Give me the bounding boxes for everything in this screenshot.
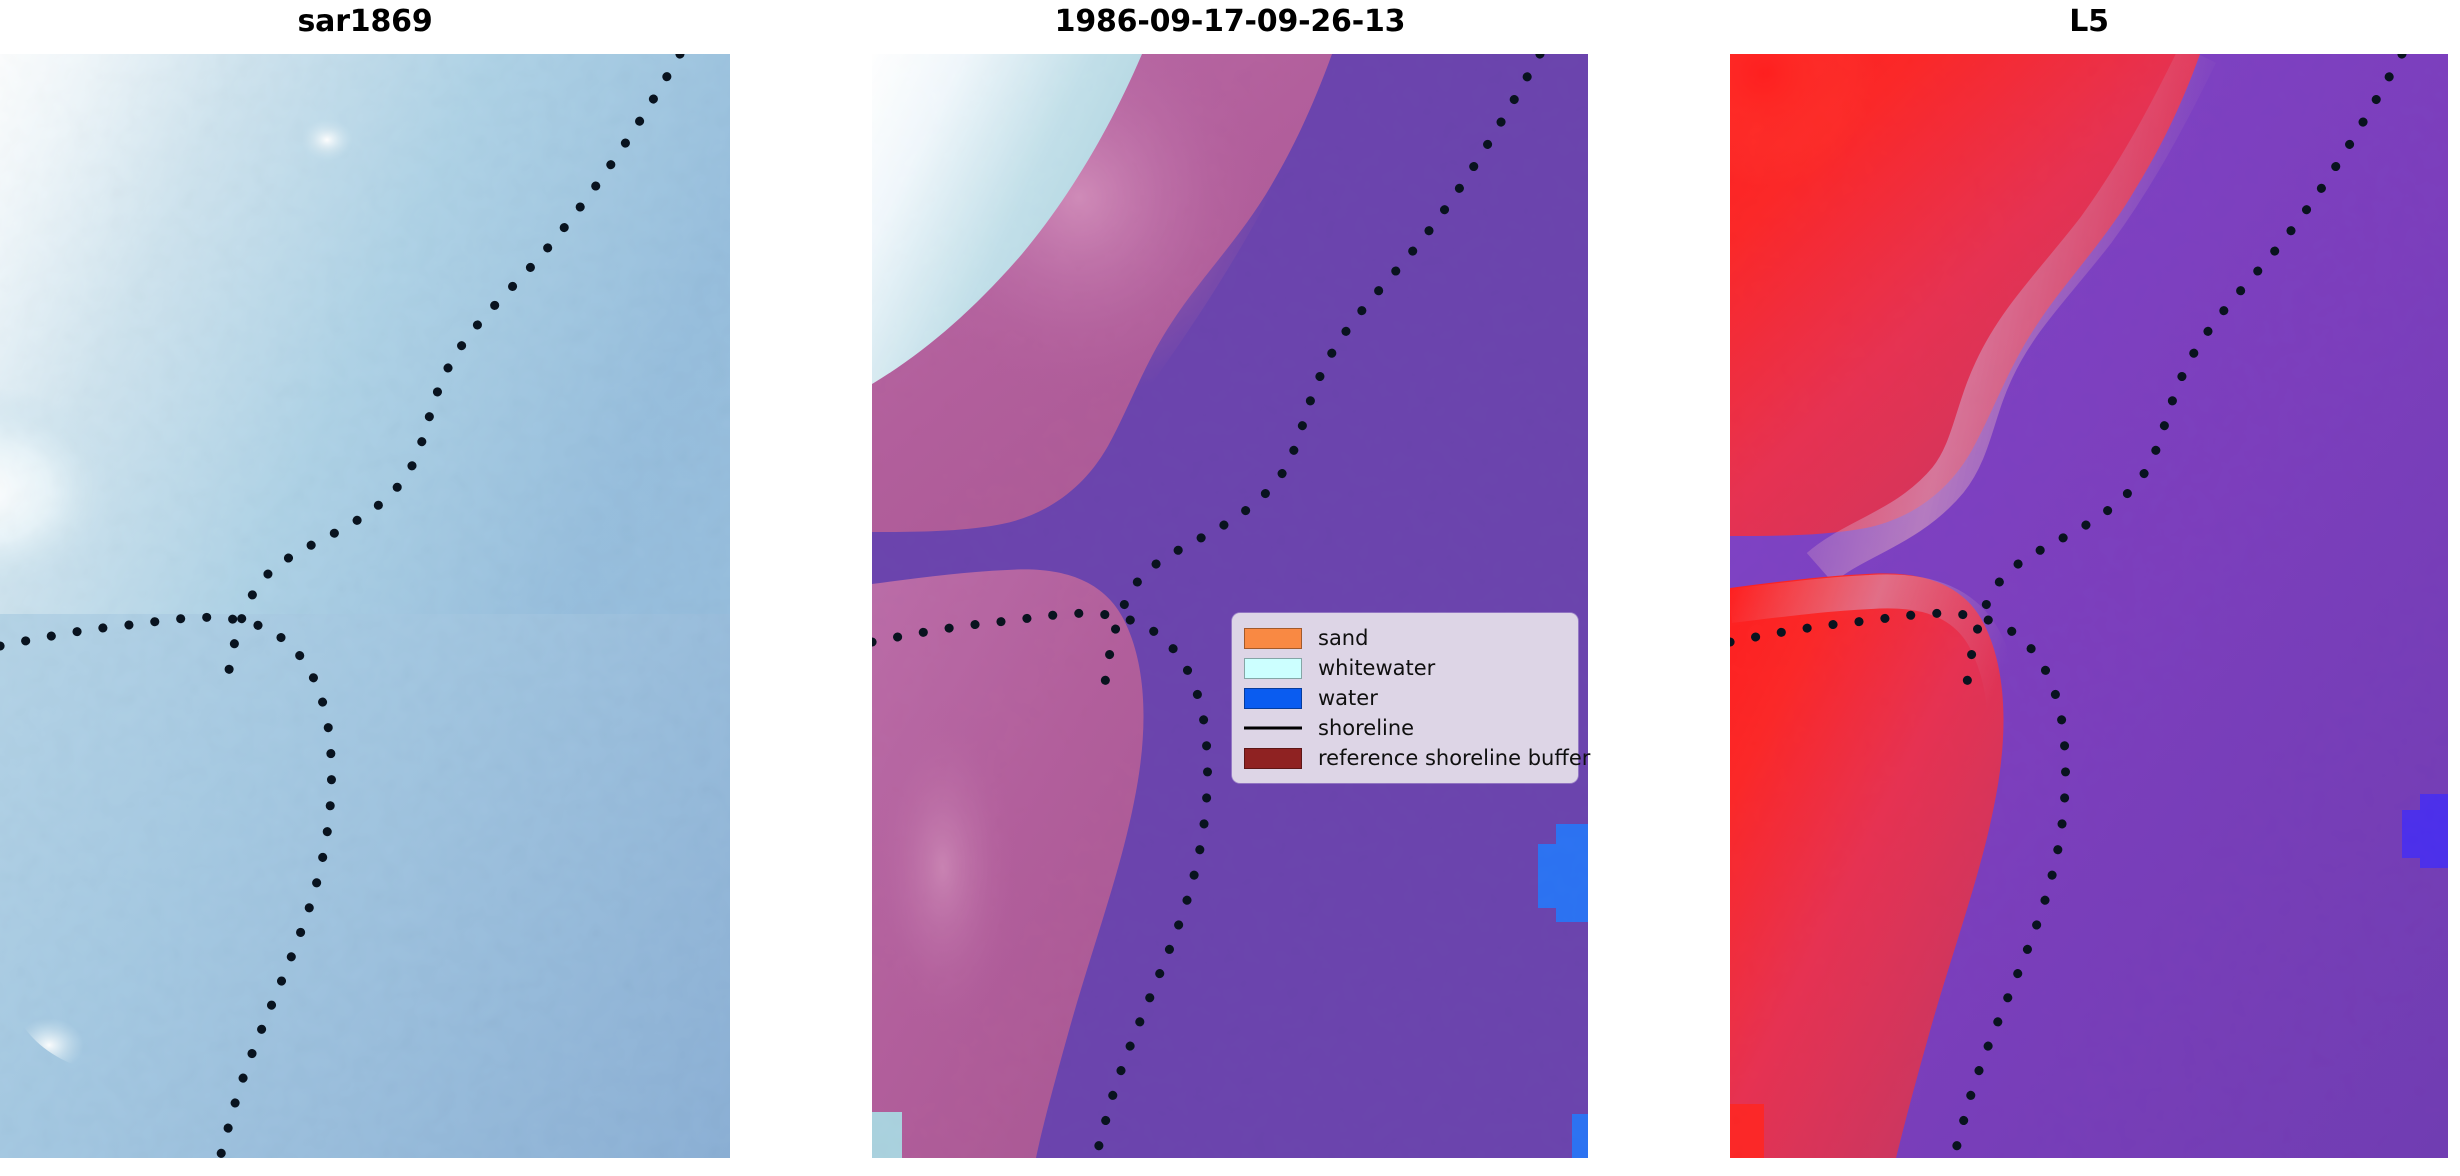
legend-item-whitewater: whitewater (1232, 653, 1578, 683)
legend-label-water: water (1318, 688, 1378, 709)
sar-raster (0, 54, 730, 1158)
legend-item-sand: sand (1232, 623, 1578, 653)
l5-raster (1730, 54, 2448, 1158)
panel-title-classified: 1986-09-17-09-26-13 (872, 4, 1588, 39)
legend-item-water: water (1232, 683, 1578, 713)
panel-sar-image[interactable] (0, 54, 730, 1158)
legend-item-shoreline: shoreline (1232, 713, 1578, 743)
panel-l5-image[interactable] (1730, 54, 2448, 1158)
legend-label-sand: sand (1318, 628, 1368, 649)
legend-label-whitewater: whitewater (1318, 658, 1435, 679)
legend-box: sand whitewater water shoreline referenc… (1232, 613, 1578, 783)
panel-title-l5: L5 (1730, 4, 2448, 39)
panel-title-sar: sar1869 (0, 4, 730, 39)
legend-label-reference-shoreline-buffer: reference shoreline buffer (1318, 748, 1590, 769)
legend-swatch-shoreline (1244, 718, 1302, 739)
legend-swatch-water (1244, 688, 1302, 709)
legend-swatch-sand (1244, 628, 1302, 649)
legend-swatch-reference-shoreline-buffer (1244, 748, 1302, 769)
classified-raster (872, 54, 1588, 1158)
legend-label-shoreline: shoreline (1318, 718, 1414, 739)
legend-swatch-whitewater (1244, 658, 1302, 679)
panel-classified-image[interactable] (872, 54, 1588, 1158)
figure-canvas: sar1869 1986-09-17-09-26-13 L5 (0, 0, 2460, 1176)
legend-item-reference-shoreline-buffer: reference shoreline buffer (1232, 743, 1578, 773)
